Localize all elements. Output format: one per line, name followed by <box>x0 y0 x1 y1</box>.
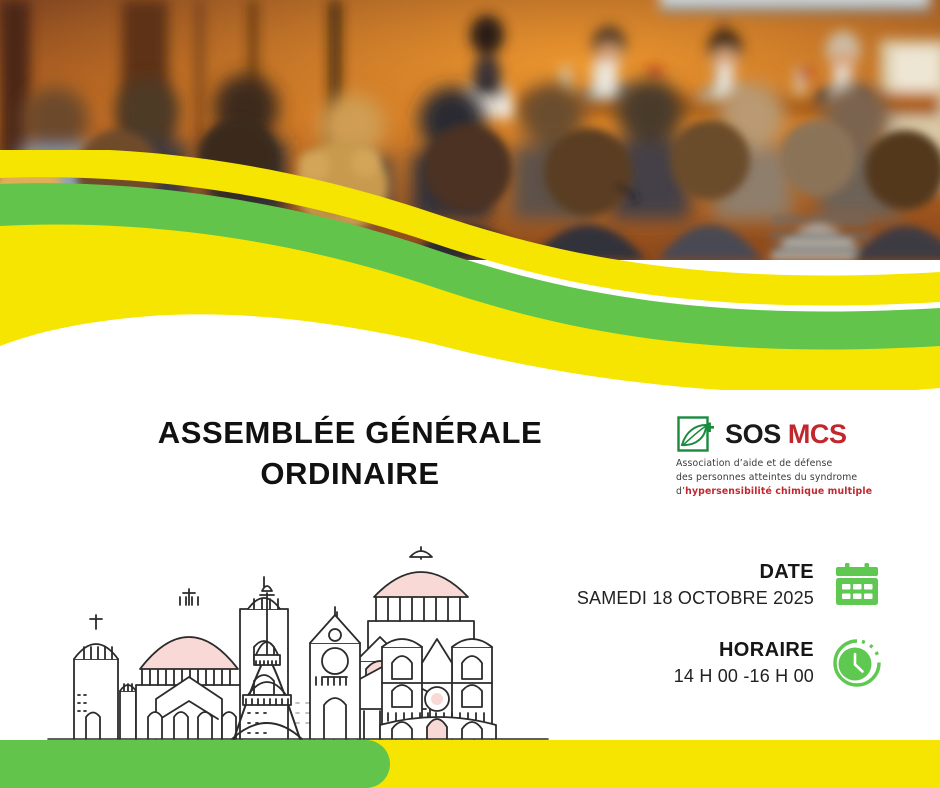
poster-canvas: ASSEMBLÉE GÉNÉRALE ORDINAIRE SOSMCS Asso… <box>0 0 940 788</box>
event-details: DATE SAMEDI 18 OCTOBRE 2025 <box>532 560 882 689</box>
conference-audience-photo <box>0 0 940 260</box>
page-title: ASSEMBLÉE GÉNÉRALE ORDINAIRE <box>60 412 640 494</box>
logo-word-mcs: MCS <box>788 419 847 449</box>
date-text: DATE SAMEDI 18 OCTOBRE 2025 <box>577 560 814 610</box>
clock-icon <box>832 638 882 688</box>
logo-wordmark-row: SOSMCS <box>676 414 868 454</box>
title-line-2: ORDINAIRE <box>60 453 640 494</box>
paris-skyline-illustration <box>38 543 558 743</box>
horaire-row: HORAIRE 14 H 00 -16 H 00 <box>532 638 882 688</box>
footer-green-shape <box>0 740 390 788</box>
date-label: DATE <box>577 560 814 584</box>
date-row: DATE SAMEDI 18 OCTOBRE 2025 <box>532 560 882 610</box>
sos-mcs-leaf-logo-icon <box>676 415 716 453</box>
logo-tagline-highlight: hypersensibilité chimique multiple <box>685 486 872 497</box>
horaire-text: HORAIRE 14 H 00 -16 H 00 <box>674 638 814 688</box>
horaire-label: HORAIRE <box>674 638 814 662</box>
logo-word-sos: SOS <box>725 419 781 449</box>
logo-tagline-line-3: d’hypersensibilité chimique multiple <box>676 485 868 499</box>
sos-mcs-logo[interactable]: SOSMCS Association d’aide et de défense … <box>676 414 868 499</box>
logo-tagline-line-2: des personnes atteintes du syndrome <box>676 471 868 485</box>
horaire-value: 14 H 00 -16 H 00 <box>674 664 814 688</box>
calendar-icon <box>832 560 882 610</box>
logo-wordmark: SOSMCS <box>725 421 847 448</box>
logo-tagline-prefix: d’ <box>676 486 685 497</box>
date-value: SAMEDI 18 OCTOBRE 2025 <box>577 586 814 610</box>
logo-tagline: Association d’aide et de défense des per… <box>676 457 868 499</box>
logo-tagline-line-1: Association d’aide et de défense <box>676 457 868 471</box>
title-line-1: ASSEMBLÉE GÉNÉRALE <box>60 412 640 453</box>
